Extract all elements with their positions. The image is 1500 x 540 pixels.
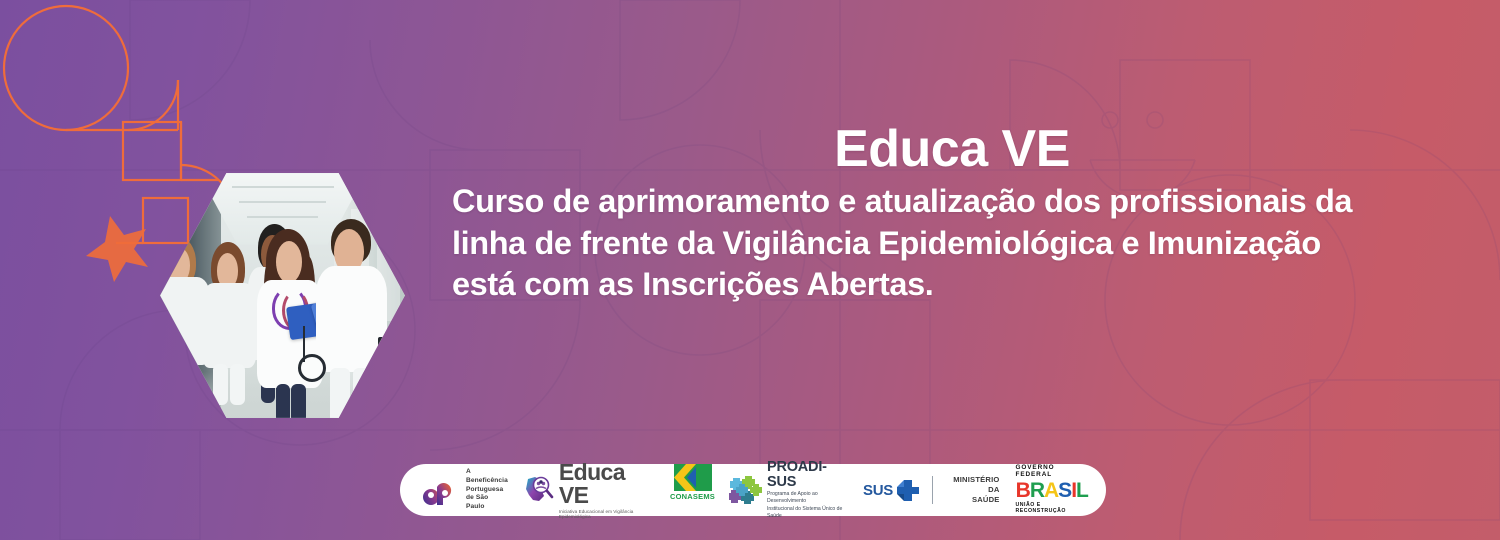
logo-ministerio-saude: MINISTÉRIO DA SAÚDE: [944, 464, 1000, 516]
sus-cross-icon: [895, 478, 921, 502]
bp-line-1: A Beneficência: [466, 468, 508, 485]
brasil-letter-5: L: [1076, 480, 1088, 501]
logo-bp: A Beneficência Portuguesa de São Paulo: [418, 464, 508, 516]
logo-divider: [932, 476, 933, 504]
educa-ve-title: Educa VE: [559, 461, 656, 507]
governo-federal-bottom-text: UNIÃO E RECONSTRUÇÃO: [1016, 502, 1088, 514]
sus-wordmark: SUS: [863, 482, 893, 499]
brasil-wordmark: BRASIL: [1016, 479, 1088, 501]
brasil-letter-2: A: [1044, 480, 1058, 501]
subheadline-line-2: linha de frente da Vigilância Epidemioló…: [452, 223, 1452, 265]
bp-wordmark: A Beneficência Portuguesa de São Paulo: [466, 468, 508, 512]
subheadline-line-3: está com as Inscrições Abertas.: [452, 264, 1452, 306]
logo-sus: SUS: [863, 464, 921, 516]
conasems-wordmark: CONASEMS: [670, 492, 715, 501]
ministerio-line-2: SAÚDE: [944, 495, 1000, 505]
proadi-molecule-icon: [729, 475, 762, 506]
logo-conasems: CONASEMS: [670, 464, 715, 516]
logo-governo-federal: GOVERNO FEDERAL BRASIL UNIÃO E RECONSTRU…: [1016, 464, 1088, 516]
promotional-banner: Educa VE Curso de aprimoramento e atuali…: [0, 0, 1500, 540]
brazil-map-magnifier-icon: [522, 475, 556, 505]
ministerio-line-1: MINISTÉRIO DA: [944, 475, 1000, 495]
partner-logo-bar: A Beneficência Portuguesa de São Paulo: [400, 464, 1106, 516]
brasil-letter-3: S: [1058, 480, 1071, 501]
brasil-letter-1: R: [1030, 480, 1044, 501]
bp-line-2: Portuguesa: [466, 486, 508, 495]
conasems-arrow-icon: [674, 464, 712, 491]
proadi-title: PROADI-SUS: [767, 460, 849, 489]
logo-educa-ve: Educa VE Iniciativa Educacional em Vigil…: [522, 464, 656, 516]
page-title: Educa VE: [452, 122, 1452, 177]
governo-federal-top-text: GOVERNO FEDERAL: [1016, 464, 1088, 478]
healthcare-team-photo: [155, 168, 410, 423]
brasil-letter-0: B: [1016, 480, 1030, 501]
proadi-subtitle-1: Programa de Apoio ao Desenvolvimento: [767, 491, 849, 505]
logo-proadi-sus: PROADI-SUS Programa de Apoio ao Desenvol…: [729, 464, 849, 516]
educa-ve-subtitle: Iniciativa Educacional em Vigilância Epi…: [559, 509, 656, 519]
bp-monogram-icon: [418, 475, 458, 505]
bp-line-3: de São Paulo: [466, 494, 508, 511]
proadi-subtitle-2: Institucional do Sistema Único de Saúde: [767, 506, 849, 520]
banner-text-block: Educa VE Curso de aprimoramento e atuali…: [452, 122, 1452, 306]
subheadline-line-1: Curso de aprimoramento e atualização dos…: [452, 181, 1452, 223]
banner-subheadline: Curso de aprimoramento e atualização dos…: [452, 181, 1452, 306]
